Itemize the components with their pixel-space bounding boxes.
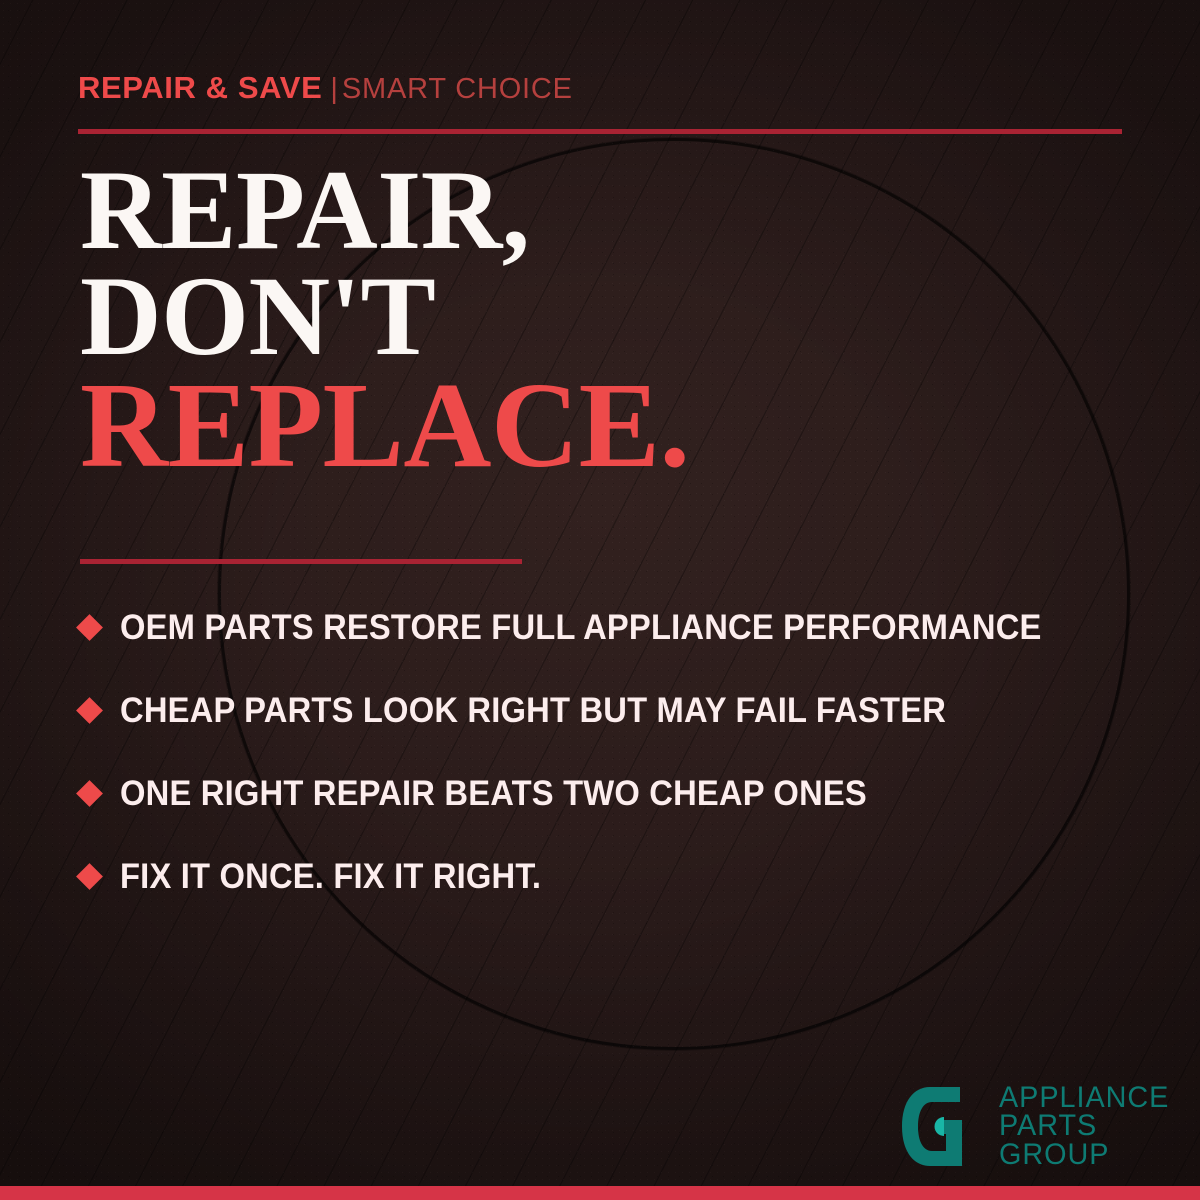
logo-line-2: PARTS bbox=[999, 1112, 1169, 1141]
kicker-separator: | bbox=[330, 73, 338, 105]
brand-logo: APPLIANCE PARTS GROUP bbox=[900, 1084, 1176, 1170]
logo-line-1: APPLIANCE bbox=[999, 1084, 1169, 1113]
list-item: CHEAP PARTS LOOK RIGHT BUT MAY FAIL FAST… bbox=[80, 669, 1150, 752]
poster-content: REPAIR & SAVE|SMART CHOICE REPAIR, DON'T… bbox=[0, 0, 1200, 1200]
list-item-label: FIX IT ONCE. FIX IT RIGHT. bbox=[120, 857, 541, 897]
diamond-bullet-icon bbox=[76, 697, 103, 724]
headline-line-1: REPAIR, bbox=[80, 158, 689, 264]
kicker-sub-label: SMART CHOICE bbox=[342, 73, 573, 105]
headline-line-3: REPLACE. bbox=[80, 369, 689, 483]
kicker-main-label: REPAIR & SAVE bbox=[78, 70, 322, 105]
kicker: REPAIR & SAVE|SMART CHOICE bbox=[78, 72, 573, 104]
diamond-bullet-icon bbox=[76, 614, 103, 641]
bottom-accent-bar bbox=[0, 1186, 1200, 1200]
list-item-label: CHEAP PARTS LOOK RIGHT BUT MAY FAIL FAST… bbox=[120, 691, 946, 731]
brand-logo-wordmark: APPLIANCE PARTS GROUP bbox=[999, 1084, 1176, 1170]
benefit-list: OEM PARTS RESTORE FULL APPLIANCE PERFORM… bbox=[80, 586, 1150, 918]
headline-divider-rule bbox=[80, 559, 522, 564]
diamond-bullet-icon bbox=[76, 863, 103, 890]
list-item: OEM PARTS RESTORE FULL APPLIANCE PERFORM… bbox=[80, 586, 1150, 669]
list-item: ONE RIGHT REPAIR BEATS TWO CHEAP ONES bbox=[80, 752, 1150, 835]
page-title: REPAIR, DON'T REPLACE. bbox=[80, 158, 689, 483]
logo-line-3: GROUP bbox=[999, 1141, 1169, 1170]
promo-poster: REPAIR & SAVE|SMART CHOICE REPAIR, DON'T… bbox=[0, 0, 1200, 1200]
headline-line-2: DON'T bbox=[80, 264, 689, 370]
list-item: FIX IT ONCE. FIX IT RIGHT. bbox=[80, 835, 1150, 918]
diamond-bullet-icon bbox=[76, 780, 103, 807]
g-monogram-icon bbox=[900, 1085, 986, 1168]
list-item-label: ONE RIGHT REPAIR BEATS TWO CHEAP ONES bbox=[120, 774, 867, 814]
header-divider-rule bbox=[78, 129, 1122, 134]
list-item-label: OEM PARTS RESTORE FULL APPLIANCE PERFORM… bbox=[120, 608, 1042, 648]
